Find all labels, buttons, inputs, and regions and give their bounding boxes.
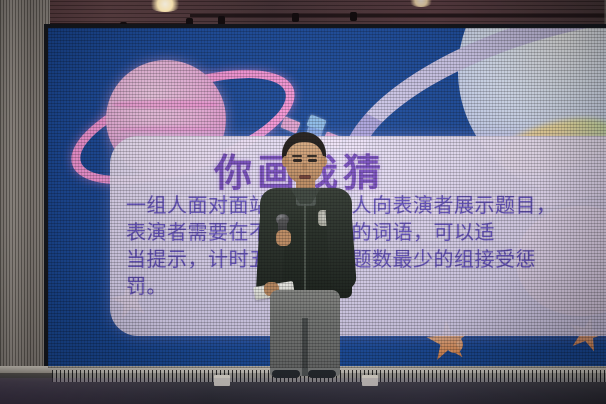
wall-panel-left [0, 0, 50, 404]
presenter-eye [293, 159, 302, 162]
presenter-hand-holding-mic [276, 230, 291, 246]
presenter-leg-separation [302, 318, 308, 376]
presenter-ear [282, 156, 289, 167]
presenter-shoe [308, 370, 336, 378]
wall-grain [0, 0, 50, 404]
presenter-eyebrow [307, 155, 317, 157]
presenter-mouth [299, 175, 311, 179]
stage-photo: 你画我猜 一组人面对面站立，出题人向表演者展示题目， 表演者需要在不说出表达的词… [0, 0, 606, 404]
presenter-shoe [272, 370, 300, 378]
track-light-icon [350, 12, 357, 21]
presenter-nose [302, 163, 307, 171]
presenter-eyebrow [292, 155, 302, 157]
presenter-jacket-zipper [304, 204, 306, 296]
track-light-icon [292, 13, 299, 22]
lighting-track [190, 14, 606, 17]
stage-floor-reflection [0, 378, 606, 404]
presenter-eye [308, 159, 317, 162]
presenter-ear [320, 156, 327, 167]
presenter-figure [238, 132, 370, 374]
presenter-arm-right [325, 203, 357, 291]
